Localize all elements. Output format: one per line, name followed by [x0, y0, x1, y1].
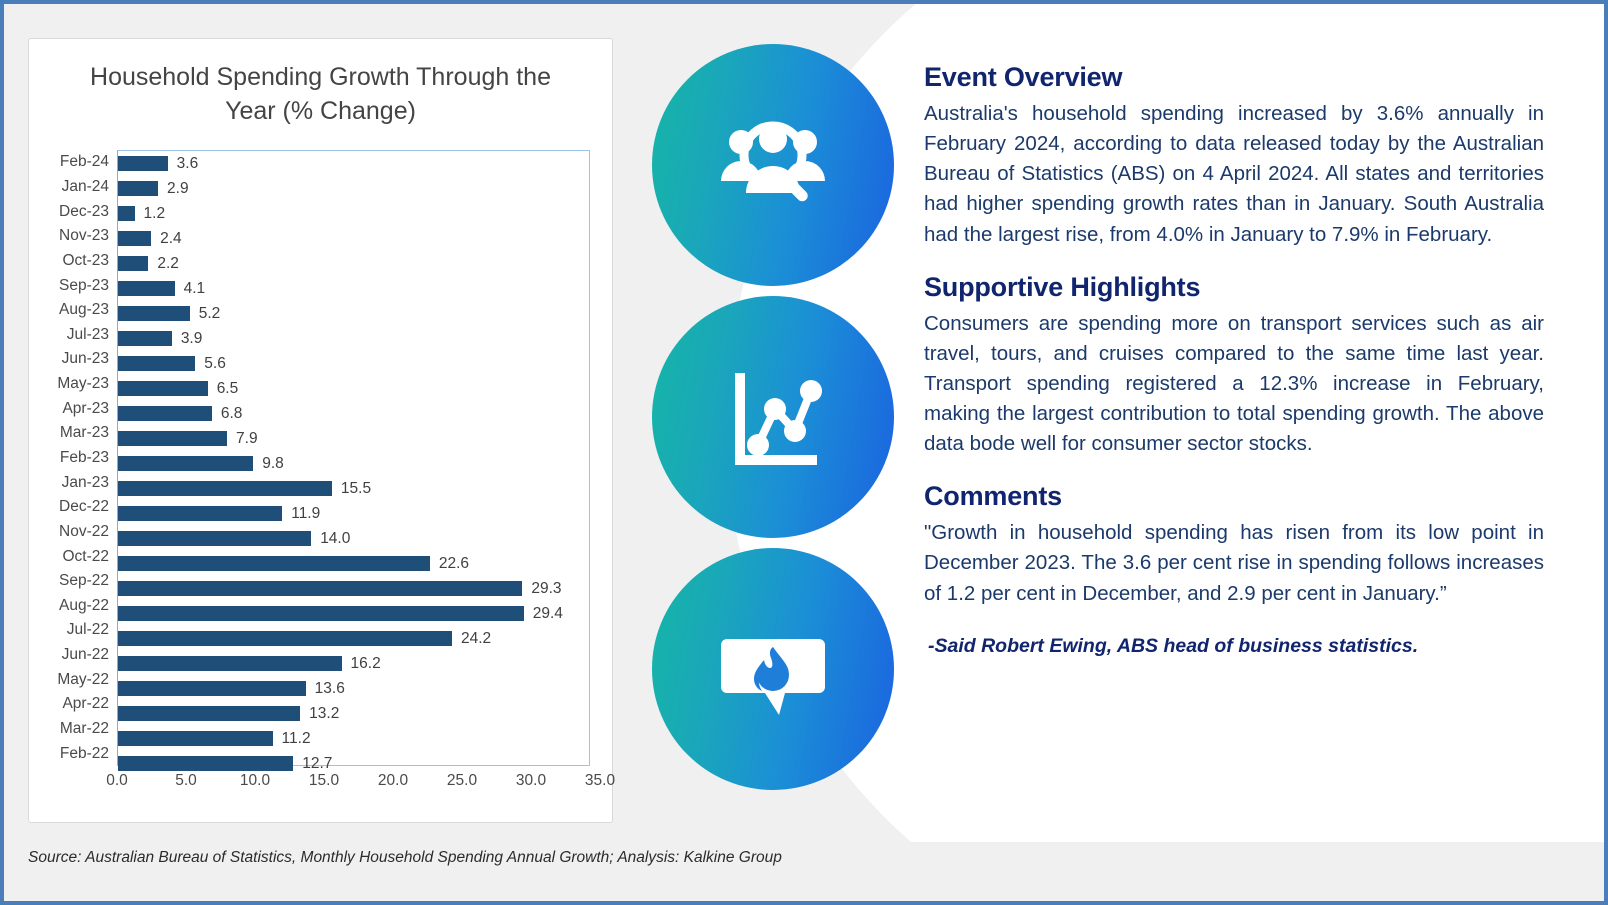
category-label: Jul-23 [35, 322, 117, 347]
bar-row: 13.2 [118, 701, 589, 726]
x-axis-tick: 10.0 [240, 772, 270, 790]
section-body: Consumers are spending more on transport… [924, 309, 1544, 460]
bar-value-label: 9.8 [262, 455, 284, 473]
bar [118, 381, 208, 396]
category-label: Oct-23 [35, 249, 117, 274]
category-label: Mar-23 [35, 421, 117, 446]
bar-value-label: 29.4 [533, 605, 563, 623]
bar-row: 6.8 [118, 401, 589, 426]
bar [118, 181, 158, 196]
source-caption: Source: Australian Bureau of Statistics,… [28, 849, 782, 867]
value-axis: 0.05.010.015.020.025.030.035.0 [117, 772, 590, 800]
bar [118, 281, 175, 296]
bar-row: 22.6 [118, 551, 589, 576]
section-heading: Supportive Highlights [924, 272, 1544, 303]
category-label: May-22 [35, 667, 117, 692]
category-label: May-23 [35, 372, 117, 397]
bar-value-label: 5.6 [204, 355, 226, 373]
x-axis-tick: 15.0 [309, 772, 339, 790]
bar-value-label: 5.2 [199, 305, 221, 323]
category-label: Oct-22 [35, 544, 117, 569]
x-axis-tick: 30.0 [516, 772, 546, 790]
bar-value-label: 4.1 [184, 280, 206, 298]
infographic-poster: Household Spending Growth Through the Ye… [0, 0, 1608, 905]
bar-row: 6.5 [118, 376, 589, 401]
bar-row: 24.2 [118, 626, 589, 651]
bar-value-label: 16.2 [351, 655, 381, 673]
section-heading: Event Overview [924, 62, 1544, 93]
category-label: Apr-22 [35, 692, 117, 717]
bar [118, 606, 524, 621]
bar [118, 656, 342, 671]
bar-value-label: 6.8 [221, 405, 243, 423]
bar [118, 506, 282, 521]
bar-value-label: 24.2 [461, 630, 491, 648]
bar [118, 306, 190, 321]
bar [118, 556, 430, 571]
bar-row: 11.9 [118, 501, 589, 526]
bar-row: 29.3 [118, 576, 589, 601]
x-axis-tick: 20.0 [378, 772, 408, 790]
bar-row: 14.0 [118, 526, 589, 551]
category-label: Jul-22 [35, 618, 117, 643]
category-label: Nov-23 [35, 224, 117, 249]
bar [118, 731, 273, 746]
line-chart-icon [713, 357, 833, 477]
category-label: Nov-22 [35, 520, 117, 545]
icon-column [652, 44, 894, 800]
bar-row: 2.4 [118, 226, 589, 251]
bar-row: 4.1 [118, 276, 589, 301]
comment-flame-icon [713, 609, 833, 729]
category-label: Sep-23 [35, 273, 117, 298]
category-label: Jan-24 [35, 175, 117, 200]
section-body: "Growth in household spending has risen … [924, 518, 1544, 608]
category-label: Apr-23 [35, 396, 117, 421]
bar [118, 631, 452, 646]
bar-value-label: 29.3 [531, 580, 561, 598]
category-label: Jun-23 [35, 347, 117, 372]
bar [118, 756, 293, 771]
bar-row: 16.2 [118, 651, 589, 676]
bar [118, 706, 300, 721]
x-axis-tick: 0.0 [106, 772, 128, 790]
bar [118, 531, 311, 546]
bar-value-label: 15.5 [341, 480, 371, 498]
bar [118, 256, 148, 271]
bar-value-label: 13.6 [315, 680, 345, 698]
bar-value-label: 14.0 [320, 530, 350, 548]
line-chart-icon-circle [652, 296, 894, 538]
bar-value-label: 7.9 [236, 430, 258, 448]
category-label: Aug-22 [35, 594, 117, 619]
bar-value-label: 11.9 [291, 505, 320, 523]
category-label: Jan-23 [35, 470, 117, 495]
bar-value-label: 11.2 [282, 730, 311, 748]
bar-row: 29.4 [118, 601, 589, 626]
bar-row: 2.9 [118, 176, 589, 201]
x-axis-tick: 5.0 [175, 772, 197, 790]
category-label: Sep-22 [35, 569, 117, 594]
chart-card: Household Spending Growth Through the Ye… [28, 38, 613, 823]
bar-row: 3.6 [118, 151, 589, 176]
bar-row: 11.2 [118, 726, 589, 751]
bar-row: 1.2 [118, 201, 589, 226]
bar [118, 156, 168, 171]
section-comments: Comments "Growth in household spending h… [924, 481, 1544, 657]
bar-row: 7.9 [118, 426, 589, 451]
category-label: Dec-23 [35, 199, 117, 224]
section-event-overview: Event Overview Australia's household spe… [924, 62, 1544, 250]
bar-value-label: 6.5 [217, 380, 239, 398]
bar [118, 431, 227, 446]
bar-value-label: 22.6 [439, 555, 469, 573]
bar [118, 231, 151, 246]
category-label: Jun-22 [35, 643, 117, 668]
section-supportive-highlights: Supportive Highlights Consumers are spen… [924, 272, 1544, 460]
bar [118, 681, 306, 696]
bar-row: 15.5 [118, 476, 589, 501]
chart-plot-wrapper: Feb-24Jan-24Dec-23Nov-23Oct-23Sep-23Aug-… [35, 150, 590, 782]
x-axis-tick: 35.0 [585, 772, 615, 790]
plot-area: 3.62.91.22.42.24.15.23.95.66.56.87.99.81… [117, 150, 590, 766]
bar-row: 9.8 [118, 451, 589, 476]
category-label: Dec-22 [35, 495, 117, 520]
bar [118, 456, 253, 471]
x-axis-tick: 25.0 [447, 772, 477, 790]
bar [118, 481, 332, 496]
bar-row: 3.9 [118, 326, 589, 351]
category-axis: Feb-24Jan-24Dec-23Nov-23Oct-23Sep-23Aug-… [35, 150, 117, 766]
bar-row: 2.2 [118, 251, 589, 276]
bar-value-label: 13.2 [309, 705, 339, 723]
bar-value-label: 3.9 [181, 330, 203, 348]
bar-value-label: 2.9 [167, 180, 189, 198]
section-body: Australia's household spending increased… [924, 99, 1544, 250]
category-label: Mar-22 [35, 717, 117, 742]
category-label: Aug-23 [35, 298, 117, 323]
chart-title: Household Spending Growth Through the Ye… [63, 61, 578, 128]
bar-value-label: 3.6 [177, 155, 199, 173]
attribution-line: -Said Robert Ewing, ABS head of business… [924, 635, 1544, 658]
bar [118, 406, 212, 421]
text-column: Event Overview Australia's household spe… [924, 62, 1544, 680]
bar-row: 13.6 [118, 676, 589, 701]
bar [118, 356, 195, 371]
bar-value-label: 1.2 [144, 205, 166, 223]
category-label: Feb-22 [35, 741, 117, 766]
category-label: Feb-23 [35, 446, 117, 471]
category-label: Feb-24 [35, 150, 117, 175]
bar-value-label: 2.2 [157, 255, 179, 273]
bar-value-label: 12.7 [302, 755, 332, 773]
comment-flame-icon-circle [652, 548, 894, 790]
people-search-icon-circle [652, 44, 894, 286]
bar [118, 331, 172, 346]
bar [118, 206, 135, 221]
bar-row: 5.6 [118, 351, 589, 376]
people-search-icon [713, 105, 833, 225]
section-heading: Comments [924, 481, 1544, 512]
bar [118, 581, 522, 596]
bar-row: 5.2 [118, 301, 589, 326]
bar-value-label: 2.4 [160, 230, 182, 248]
